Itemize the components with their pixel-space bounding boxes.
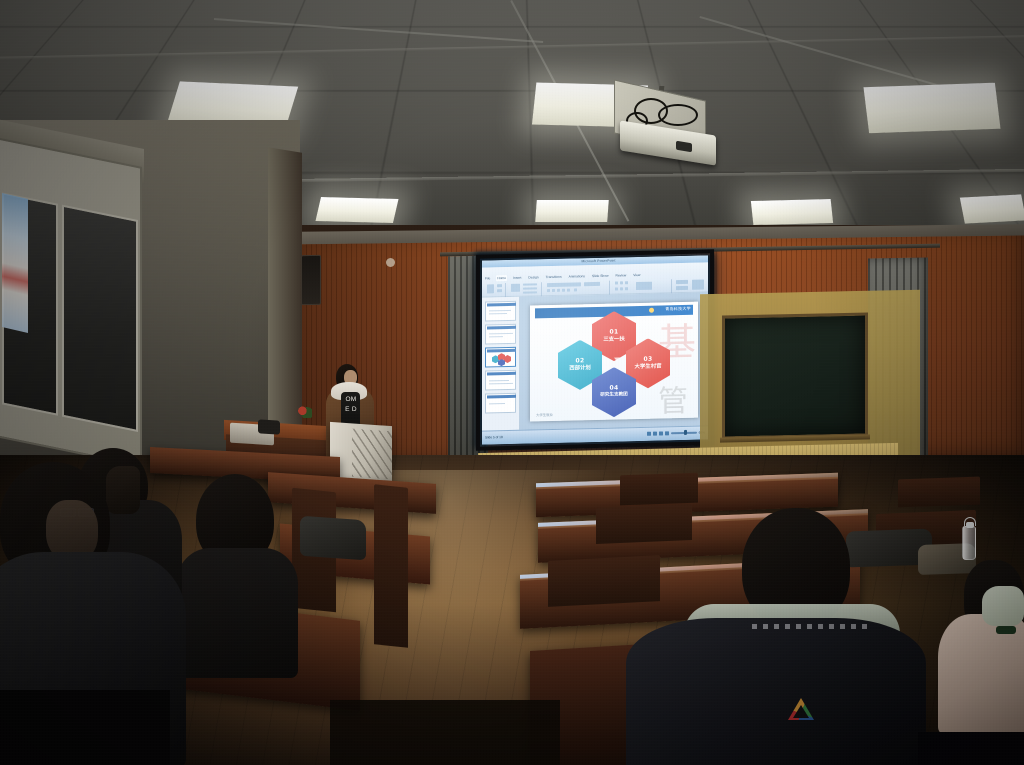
wall-fixture <box>386 258 395 267</box>
bench-left-2 <box>374 484 408 648</box>
podium-pattern <box>352 429 392 480</box>
screen-frame <box>476 249 714 450</box>
foreground-dark-left <box>0 690 170 765</box>
blackboard <box>722 312 868 439</box>
presenter-shirt-text-2: E D <box>342 406 360 413</box>
foreground-dark-center <box>330 700 560 765</box>
water-bottle <box>962 526 976 560</box>
ceiling-light-panel <box>863 83 1000 134</box>
bench-back <box>596 504 692 544</box>
bag-on-left-desk <box>300 516 366 561</box>
student-jacket <box>626 618 926 765</box>
student-arm <box>106 466 140 514</box>
ceiling-light-panel <box>751 199 833 225</box>
projector-cable <box>658 104 698 126</box>
bench-front <box>548 555 660 607</box>
ceiling-light-panel <box>315 197 398 223</box>
bench-back <box>620 473 698 506</box>
student-scarf <box>982 586 1024 626</box>
classroom-photo: Microsoft PowerPoint File Home Insert De… <box>0 0 1024 765</box>
held-phone <box>996 626 1016 634</box>
window-poster <box>2 193 28 333</box>
bottle-carry-loop <box>964 517 976 526</box>
ceiling-projector <box>606 86 724 172</box>
student-body <box>176 548 298 678</box>
wall-speaker <box>301 255 321 305</box>
ceiling-light-panel <box>960 194 1024 223</box>
bench-back <box>898 477 980 508</box>
foreground-shadow <box>918 732 1024 765</box>
presenter-shirt-text-1: OM <box>342 396 360 403</box>
av-equipment-dark <box>258 419 280 434</box>
jacket-brand-text <box>752 624 872 629</box>
ceiling-light-panel <box>535 200 609 222</box>
wall-decoration <box>296 406 312 418</box>
window-pane <box>62 205 138 432</box>
